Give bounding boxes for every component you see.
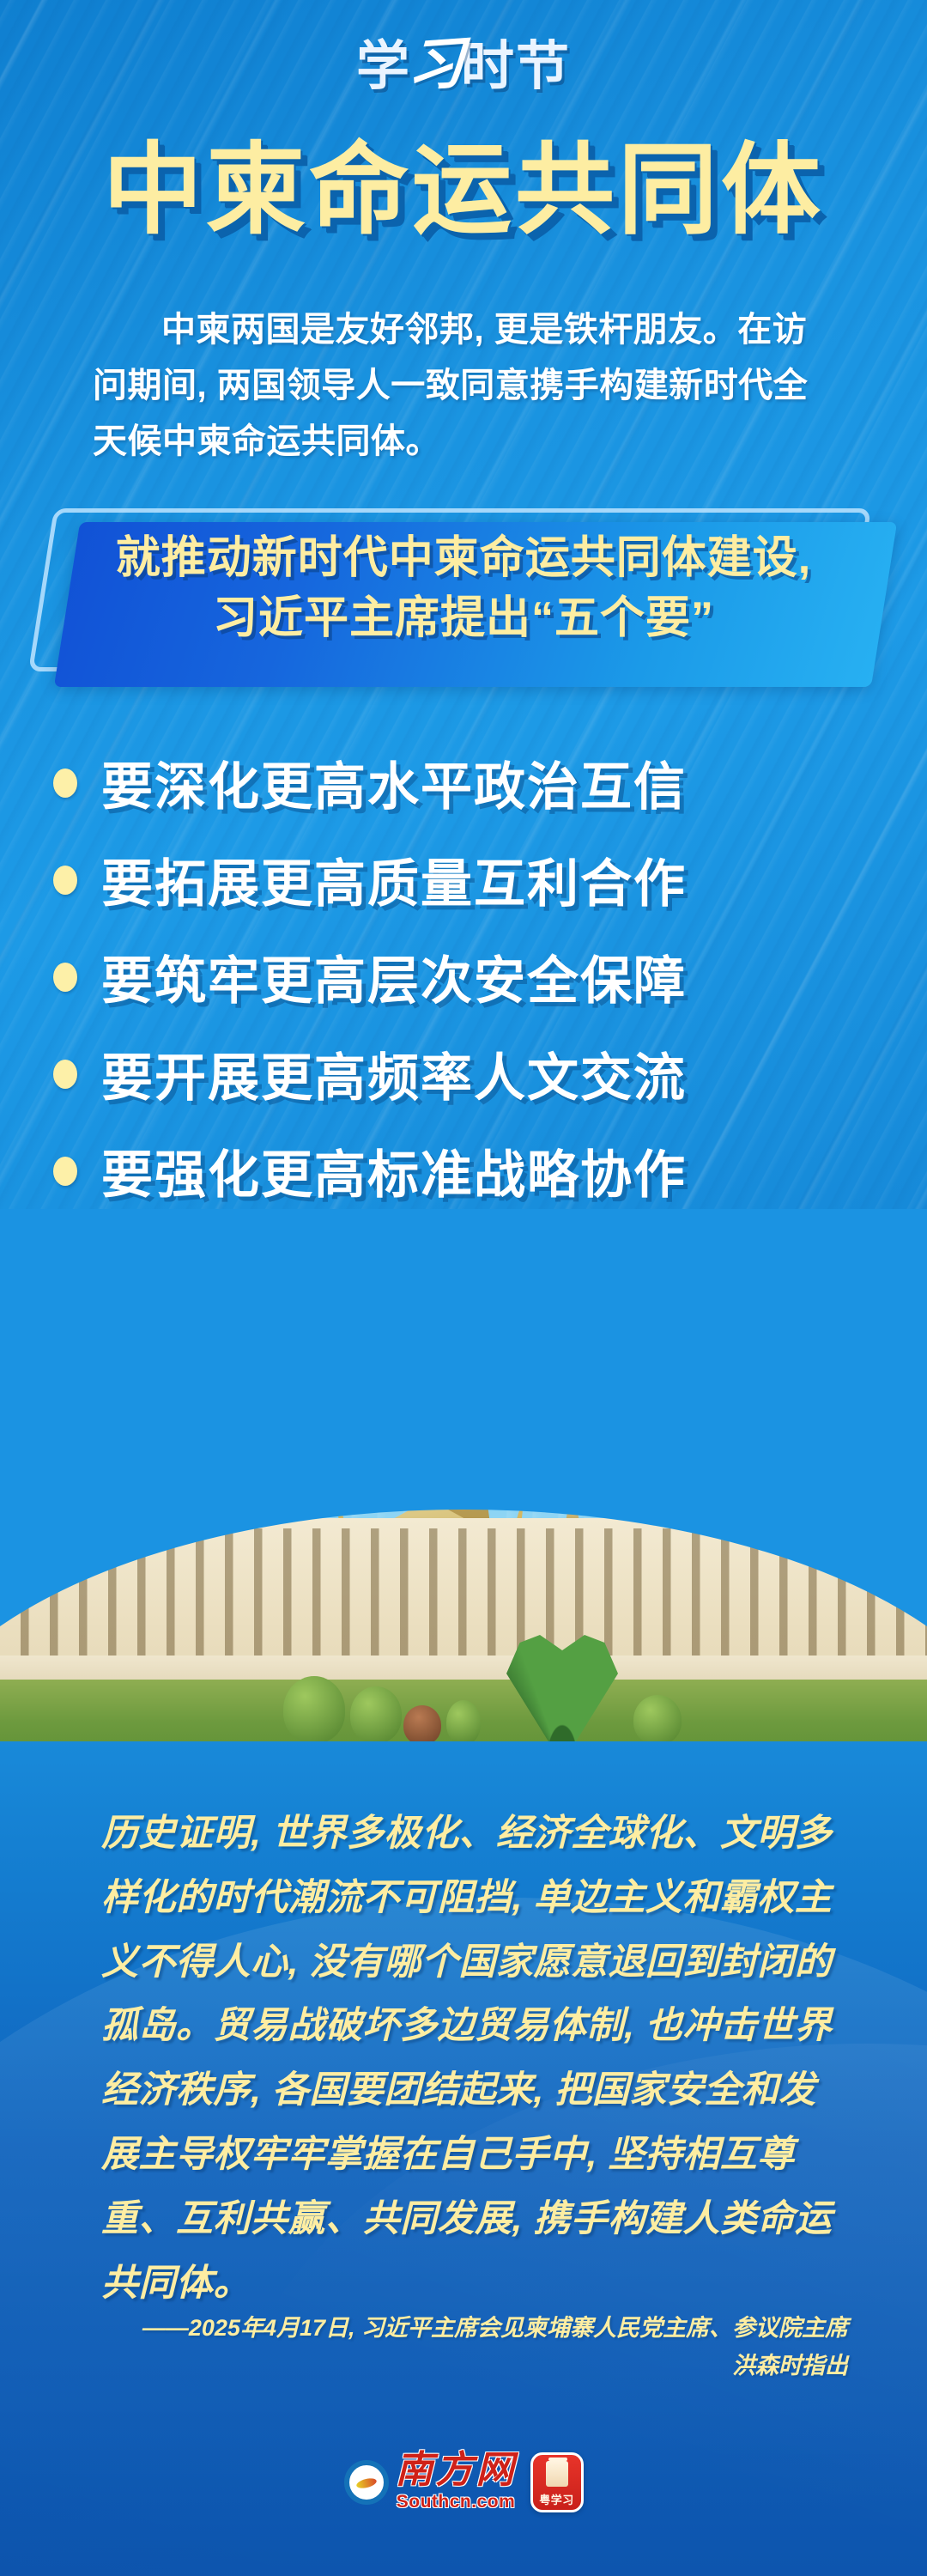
southcn-emblem-icon — [344, 2460, 389, 2505]
five-points-list: 要深化更高水平政治互信 要拓展更高质量互利合作 要筑牢更高层次安全保障 要开展更… — [0, 734, 927, 1219]
bullet-dot-icon — [53, 963, 77, 992]
page-title: 中柬命运共同体 — [0, 136, 927, 246]
bullet-dot-icon — [53, 769, 77, 798]
list-item: 要筑牢更高层次安全保障 — [0, 928, 927, 1025]
right-spire-needle — [572, 1400, 574, 1494]
bullet-label: 要筑牢更高层次安全保障 — [101, 939, 687, 1014]
list-item: 要拓展更高质量互利合作 — [0, 831, 927, 928]
bullet-label: 要强化更高标准战略协作 — [101, 1133, 687, 1208]
highlight-banner: 就推动新时代中柬命运共同体建设, 习近平主席提出“五个要” — [0, 498, 927, 687]
yuexuexi-label: 粤学习 — [539, 2491, 574, 2507]
palace-photo — [0, 1209, 927, 1741]
banner-text: 就推动新时代中柬命运共同体建设, 习近平主席提出“五个要” — [0, 529, 927, 648]
list-item: 要深化更高水平政治互信 — [0, 734, 927, 831]
southcn-logo[interactable]: 南方网 Southcn.com — [344, 2451, 517, 2512]
intro-paragraph: 中柬两国是友好邻邦, 更是铁杆朋友。在访问期间, 两国领导人一致同意携手构建新时… — [93, 302, 839, 469]
southcn-name-cn: 南方网 — [396, 2451, 517, 2489]
quote-attribution: ——2025年4月17日, 习近平主席会见柬埔寨人民党主席、参议院主席洪森时指出 — [129, 2310, 848, 2385]
list-item: 要开展更高频率人文交流 — [0, 1025, 927, 1122]
bullet-label: 要开展更高频率人文交流 — [101, 1036, 687, 1111]
bullet-dot-icon — [53, 1060, 77, 1089]
bullet-label: 要深化更高水平政治互信 — [101, 745, 687, 820]
central-spire-needle — [462, 1214, 465, 1317]
left-spire-needle — [278, 1329, 281, 1432]
yuexuexi-app-icon[interactable]: 粤学习 — [530, 2452, 584, 2512]
infographic-poster: 学习时节 中柬命运共同体 中柬两国是友好邻邦, 更是铁杆朋友。在访问期间, 两国… — [0, 0, 927, 2576]
brand-logo: 学习时节 — [0, 19, 927, 101]
southcn-wordmark: 南方网 Southcn.com — [396, 2451, 517, 2512]
banner-line-2: 习近平主席提出“五个要” — [0, 589, 927, 649]
quote-text: 历史证明, 世界多极化、经济全球化、文明多样化的时代潮流不可阻挡, 单边主义和霸… — [101, 1801, 848, 2316]
footer-logos: 南方网 Southcn.com 粤学习 — [0, 2451, 927, 2512]
bullet-dot-icon — [53, 866, 77, 895]
southcn-name-en: Southcn.com — [397, 2492, 516, 2512]
brand-logo-part1: 学 — [356, 22, 411, 100]
brand-logo-part2: 时节 — [461, 22, 571, 100]
brand-logo-cursive-xi: 习 — [406, 17, 466, 103]
central-spire-bulb — [453, 1310, 474, 1352]
yuexuexi-book-glyph-icon — [546, 2461, 568, 2487]
bullet-dot-icon — [53, 1157, 77, 1186]
list-item: 要强化更高标准战略协作 — [0, 1122, 927, 1219]
bullet-label: 要拓展更高质量互利合作 — [101, 842, 687, 917]
banner-line-1: 就推动新时代中柬命运共同体建设, — [0, 529, 927, 589]
